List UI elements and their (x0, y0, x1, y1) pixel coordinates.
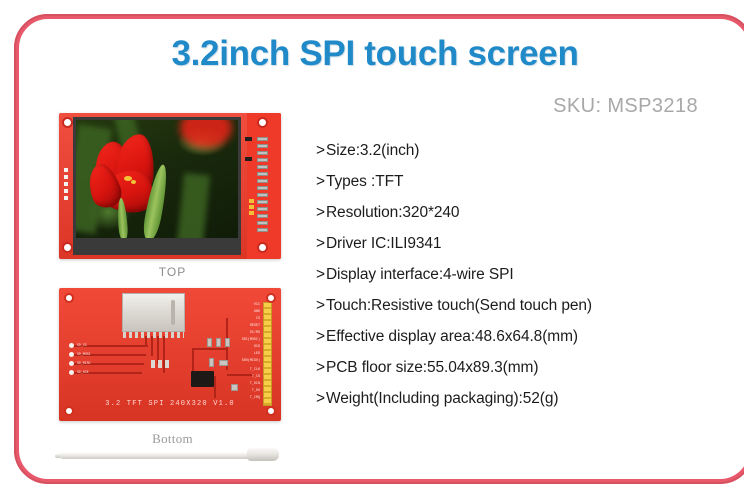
spec-item-driver-ic: >Driver IC:ILI9341 (316, 228, 716, 259)
stylus-cap (247, 448, 279, 461)
smd-resistor (225, 338, 230, 347)
gold-pad (249, 199, 254, 203)
voltage-regulator-ic (191, 371, 214, 387)
signal-pad (69, 370, 74, 375)
mounting-hole (266, 293, 276, 303)
header-pin (257, 214, 268, 218)
pin-label: LED (254, 352, 260, 356)
spec-text: Types :TFT (326, 173, 403, 190)
header-pin (257, 144, 268, 148)
solder-pad (64, 189, 68, 193)
pin-label: SDO(MISO) (242, 359, 260, 363)
caption-top-view: TOP (55, 265, 290, 279)
header-pin (257, 165, 268, 169)
pad-label: SD_SCK (77, 370, 88, 374)
bullet-marker: > (316, 290, 325, 321)
product-photo-bottom-view: SD_CS SD_MOSI SD_MISO SD_SCK VCC GND C (59, 288, 281, 421)
pin-label: VCC (254, 303, 260, 307)
header-pin (257, 193, 268, 197)
stylus-pen (55, 447, 283, 464)
microsd-card-slot (122, 293, 185, 332)
smd-capacitor (219, 360, 228, 366)
photo-tulip-stamen (131, 180, 136, 184)
bullet-marker: > (316, 166, 325, 197)
pad-label: SD_MOSI (77, 352, 90, 356)
solder-pad (64, 168, 68, 172)
sd-slot-pins (123, 332, 184, 338)
header-pin (257, 207, 268, 211)
pin-label: CS (256, 317, 260, 321)
pin-label: T_CS (252, 375, 260, 379)
gold-pad (249, 211, 254, 215)
bullet-marker: > (316, 135, 325, 166)
spec-item-pcb-size: >PCB floor size:55.04x89.3(mm) (316, 352, 716, 383)
product-photo-top-view (59, 113, 281, 259)
mounting-hole (257, 117, 268, 128)
top-view-right-rail (247, 113, 281, 259)
header-pin (257, 172, 268, 176)
spec-item-weight: >Weight(Including packaging):52(g) (316, 383, 716, 414)
bullet-marker: > (316, 352, 325, 383)
spec-text: Effective display area:48.6x64.8(mm) (326, 328, 578, 345)
pin-label: T_DIN (250, 382, 260, 386)
tft-display-screen (76, 120, 238, 238)
smd-resistor (209, 358, 214, 367)
gold-pad (249, 205, 254, 209)
smd-resistor (216, 338, 221, 347)
spec-item-effective-area: >Effective display area:48.6x64.8(mm) (316, 321, 716, 352)
pcb-trace (214, 376, 216, 398)
bullet-marker: > (316, 197, 325, 228)
via-pad (151, 360, 155, 368)
signal-pad (69, 343, 74, 348)
pin-label: RESET (250, 324, 260, 328)
gold-pin-header (263, 302, 272, 406)
pin-label: DC/RS (250, 331, 260, 335)
stylus-body (60, 452, 254, 459)
header-pin (257, 151, 268, 155)
solder-pad (64, 182, 68, 186)
frame-mask-bottom (0, 494, 750, 500)
spec-text: Resolution:320*240 (326, 204, 460, 221)
pcb-trace (227, 374, 253, 376)
mounting-hole (257, 242, 268, 253)
header-pin (257, 228, 268, 232)
pcb-trace (192, 348, 228, 350)
product-image-column: TOP SD_CS SD_MOSI SD_MISO SD_SCK (55, 113, 290, 463)
header-pin (257, 137, 268, 141)
signal-pad (69, 352, 74, 357)
pin-label: SDI(MOSI) (242, 338, 260, 342)
spec-text: PCB floor size:55.04x89.3(mm) (326, 359, 538, 376)
spec-item-display-interface: >Display interface:4-wire SPI (316, 259, 716, 290)
pad-label: SD_CS (77, 343, 87, 347)
header-pin (257, 221, 268, 225)
header-pin (257, 158, 268, 162)
pin-label: SCK (254, 345, 260, 349)
via-pad (165, 360, 169, 368)
pad-label: SD_MISO (77, 361, 90, 365)
spec-text: Weight(Including packaging):52(g) (326, 390, 559, 407)
spec-item-touch: >Touch:Resistive touch(Send touch pen) (316, 290, 716, 321)
solder-pad (64, 196, 68, 200)
via-pad (158, 360, 162, 368)
bullet-marker: > (316, 321, 325, 352)
spec-item-size: >Size:3.2(inch) (316, 135, 716, 166)
bullet-marker: > (316, 228, 325, 259)
mounting-hole (62, 242, 73, 253)
mounting-hole (62, 117, 73, 128)
bullet-marker: > (316, 383, 325, 414)
smd-capacitor (231, 384, 238, 391)
caption-bottom-view: Bottom (55, 431, 290, 447)
pcb-silkscreen-text: 3.2 TFT SPI 240X320 V1.0 (59, 400, 281, 408)
pcb-trace (151, 336, 153, 356)
smd-component (245, 137, 252, 141)
solder-pad (64, 175, 68, 179)
sd-slot-spring (171, 300, 175, 325)
mounting-hole (64, 293, 74, 303)
smd-resistor (207, 338, 212, 347)
header-pin (257, 179, 268, 183)
specification-list: >Size:3.2(inch) >Types :TFT >Resolution:… (316, 135, 716, 414)
page-title: 3.2inch SPI touch screen (0, 34, 750, 74)
bullet-marker: > (316, 259, 325, 290)
smd-component (245, 157, 252, 161)
pin-label: T_DO (252, 389, 260, 393)
spec-item-resolution: >Resolution:320*240 (316, 197, 716, 228)
spec-text: Touch:Resistive touch(Send touch pen) (326, 297, 592, 314)
pin-label: GND (254, 310, 260, 314)
signal-pad (69, 361, 74, 366)
frame-mask-right (744, 0, 750, 500)
spec-text: Display interface:4-wire SPI (326, 266, 514, 283)
header-pin (257, 186, 268, 190)
spec-item-types: >Types :TFT (316, 166, 716, 197)
spec-text: Driver IC:ILI9341 (326, 235, 441, 252)
sku-label: SKU: MSP3218 (553, 95, 698, 118)
header-pin (257, 200, 268, 204)
pin-label: T_CLK (250, 368, 260, 372)
spec-text: Size:3.2(inch) (326, 142, 419, 159)
